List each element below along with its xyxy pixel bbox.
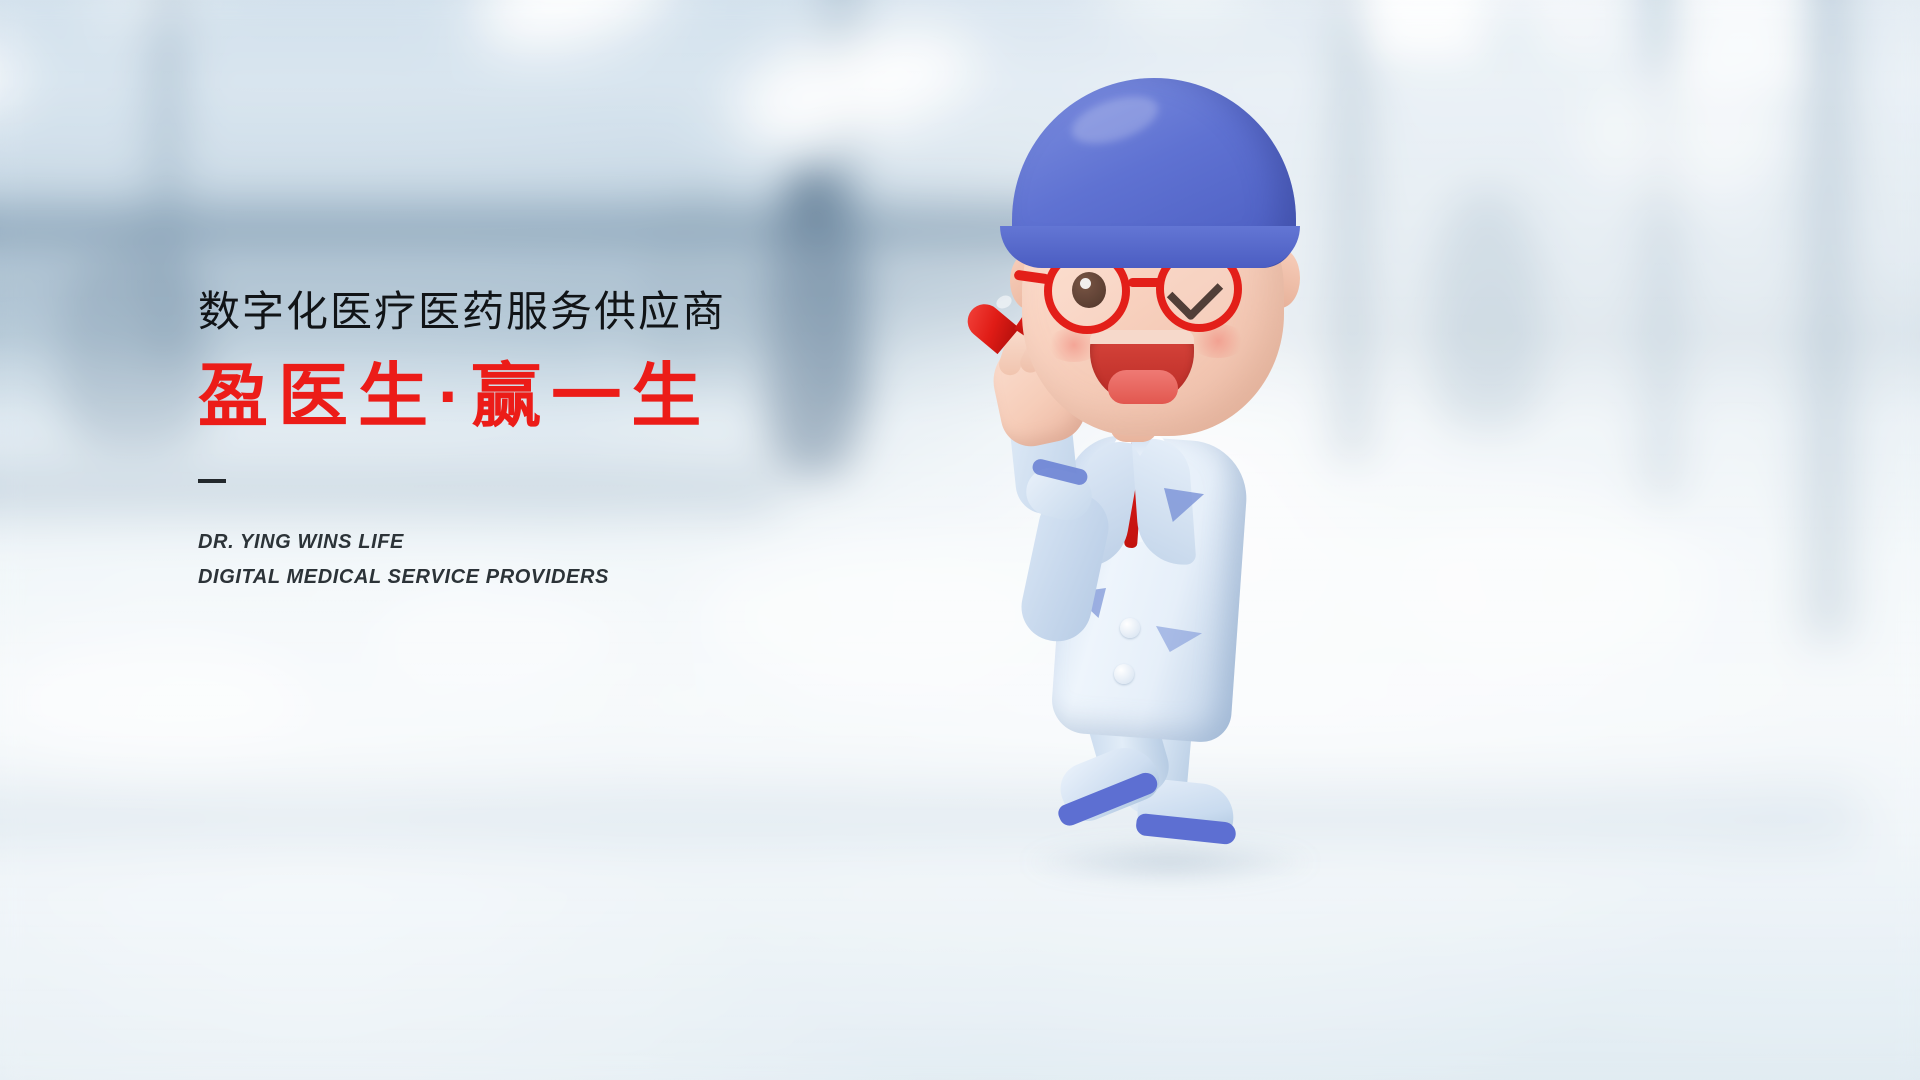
hero-subtitle: DR. YING WINS LIFE DIGITAL MEDICAL SERVI…: [198, 525, 978, 595]
hero-copy-block: 数字化医疗医药服务供应商 盈医生·赢一生 DR. YING WINS LIFE …: [198, 288, 978, 595]
doctor-mascot: [960, 40, 1380, 870]
divider-dash: [198, 479, 226, 483]
coat-button-bottom: [1114, 664, 1134, 684]
surgical-cap-brim: [1000, 226, 1300, 268]
hero-banner: 数字化医疗医药服务供应商 盈医生·赢一生 DR. YING WINS LIFE …: [0, 0, 1920, 1080]
mascot-ground-shadow: [1020, 840, 1320, 884]
hero-headline: 数字化医疗医药服务供应商: [198, 288, 978, 336]
hero-slogan: 盈医生·赢一生: [198, 358, 978, 435]
tongue: [1108, 370, 1178, 404]
mouth-upper-lip: [1090, 330, 1194, 344]
subtitle-line-2: DIGITAL MEDICAL SERVICE PROVIDERS: [198, 560, 978, 595]
subtitle-line-1: DR. YING WINS LIFE: [198, 525, 978, 560]
coat-button-top: [1120, 618, 1140, 638]
glasses-bridge: [1128, 278, 1162, 287]
